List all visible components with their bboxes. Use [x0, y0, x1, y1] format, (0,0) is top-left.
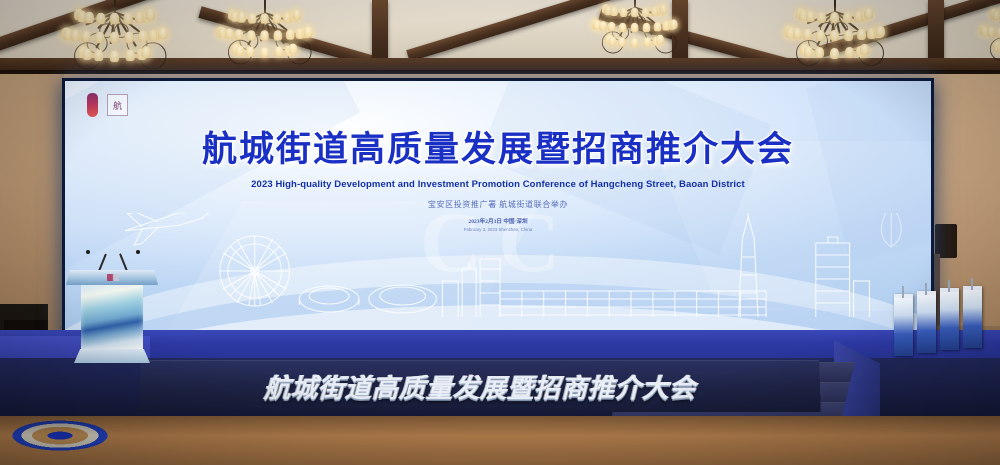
chandelier-bulb [237, 12, 246, 22]
chandelier-bulb [987, 27, 995, 37]
chandelier-bulb [804, 46, 813, 57]
led-screen: CC [65, 81, 931, 335]
chandelier-bulb [96, 12, 105, 24]
event-subtitle-en: 2023 High-quality Development and Invest… [65, 179, 931, 190]
chandelier-bulb [123, 12, 132, 24]
chandelier-bulb [235, 30, 244, 40]
chandelier-bulb [610, 7, 618, 16]
lectern-front-panel [81, 285, 143, 349]
chandelier-bulb [82, 48, 91, 60]
ceiling-beam-vertical [372, 0, 388, 60]
office-towers-icon [442, 259, 500, 317]
chandelier [194, 0, 337, 74]
chandelier-bulb [125, 31, 134, 43]
lectern-base [74, 349, 150, 363]
event-date-en: February 3, 2023 Shenzhen, China [65, 227, 931, 232]
display-board [963, 286, 982, 348]
chandelier-bulb [830, 12, 839, 23]
chandelier-bulb [654, 22, 662, 31]
display-board [894, 294, 913, 356]
high-rise-icon [816, 237, 870, 317]
chandelier-bulb [857, 29, 866, 40]
chandelier-bulb [247, 30, 256, 40]
chandelier-bulb [260, 47, 269, 57]
chandelier-bulb [643, 23, 651, 32]
convention-center-icon [500, 291, 766, 317]
stage-banner-text: 航城街道高质量发展暨招商推介大会 [264, 368, 697, 405]
chandelier-bulb [609, 37, 617, 46]
chandelier-bulb [110, 13, 119, 25]
chandelier-bulb [125, 50, 134, 62]
chandelier-bulb [94, 50, 103, 62]
chandelier-bulb [71, 30, 80, 42]
chandelier [958, 0, 1000, 70]
chandelier-bulb [860, 44, 869, 55]
chandelier-bulb [260, 30, 269, 40]
lectern-emblem [107, 274, 119, 281]
chandelier-bulb [660, 4, 668, 13]
chandelier [760, 0, 910, 76]
display-board [940, 288, 959, 350]
stadium-icon [299, 286, 359, 312]
chandelier-bulb [631, 38, 639, 47]
chandelier-bulb [274, 30, 283, 40]
carpet-shading [0, 416, 1000, 465]
ceiling-beam-vertical [928, 0, 944, 60]
stage-front-banner: 航城街道高质量发展暨招商推介大会 [139, 360, 821, 412]
ferris-wheel-icon [220, 236, 290, 306]
chandelier-bulb [260, 13, 269, 23]
chandelier-bulb [275, 47, 284, 57]
display-board [917, 291, 936, 353]
chandelier-bulb [803, 29, 812, 40]
chandelier-bulb [844, 30, 853, 41]
chandelier-bulb [273, 13, 282, 23]
chandelier-bulb [830, 30, 839, 41]
event-date-cn: 2023年2月3日 中国·深圳 [65, 217, 931, 225]
chandelier-bulb [81, 31, 90, 43]
chandelier-bulb [248, 13, 257, 23]
chandelier-bulb [817, 12, 826, 23]
chandelier-bulb [286, 30, 295, 40]
chandelier-bulb [670, 20, 678, 29]
display-boards [894, 288, 986, 356]
chandelier-bulb [876, 26, 885, 37]
chandelier-bulb [644, 38, 652, 47]
chandelier-bulb [830, 48, 839, 59]
chandelier-bulb [145, 9, 154, 21]
chandelier-bulb [110, 32, 119, 44]
chandelier-bulb [642, 7, 650, 16]
chandelier-bulb [158, 27, 167, 39]
chandelier-bulb [620, 7, 628, 16]
chandelier-bulb [236, 46, 245, 56]
chandelier-bulb [843, 12, 852, 23]
chandelier-bulb [816, 30, 825, 41]
chandelier-bulb [619, 23, 627, 32]
hangcheng-street-logo: 航 [107, 94, 128, 116]
led-screen-frame: CC [62, 78, 934, 338]
chandelier-bulb [138, 31, 147, 43]
chandelier-bulb [793, 28, 802, 39]
chandelier [36, 0, 194, 80]
lectern [66, 258, 158, 364]
baoan-district-logo [87, 93, 98, 117]
speaker-box [935, 224, 957, 258]
chandelier-bulb [599, 21, 607, 30]
chandelier-bulb [996, 28, 1000, 38]
microphone-head [86, 250, 90, 254]
chandelier-bulb [141, 46, 150, 58]
chandelier-bulb [631, 23, 639, 32]
chandelier-bulb [631, 8, 639, 17]
chandelier-bulb [815, 47, 824, 58]
chandelier-bulb [293, 9, 302, 19]
arena-icon [369, 285, 437, 313]
chandelier-bulb [246, 47, 255, 57]
event-title-cn: 航城街道高质量发展暨招商推介大会 [65, 121, 931, 172]
chandelier-bulb [845, 47, 854, 58]
chandelier-bulb [608, 22, 616, 31]
chandelier-bulb [289, 44, 298, 54]
chandelier-bulb [618, 38, 626, 47]
chandelier-bulb [304, 27, 313, 37]
screen-title-block: 航城街道高质量发展暨招商推介大会 2023 High-quality Devel… [65, 121, 931, 232]
conference-hall-photo: CC [0, 0, 1000, 465]
chandelier-bulb [225, 29, 234, 39]
chandelier-bulb [864, 8, 873, 19]
event-organizers-cn: 宝安区投资推广署 航城街道联合举办 [65, 199, 931, 210]
microphone-head [136, 250, 140, 254]
chandelier-bulb [85, 12, 94, 24]
chandelier-bulb [95, 31, 104, 43]
screen-logos: 航 [87, 93, 128, 117]
chandelier-bulb [110, 51, 119, 63]
chandelier-bulb [806, 11, 815, 22]
chandelier-bulb [656, 35, 664, 44]
chandelier [571, 0, 699, 62]
